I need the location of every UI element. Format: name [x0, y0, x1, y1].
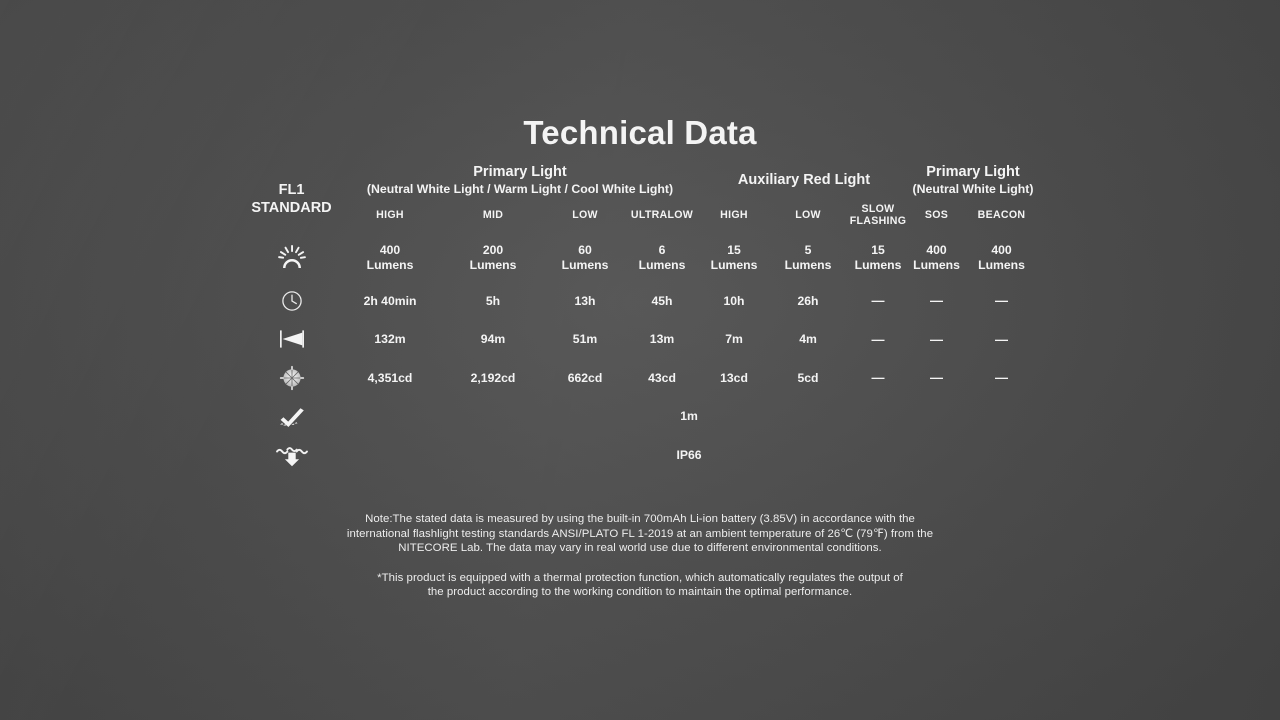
- cell-beam-distance-red-slow-flashing: —: [848, 320, 908, 359]
- cell-beam-distance-primary-mid: 94m: [440, 320, 546, 359]
- note-thermal-protection: *This product is equipped with a thermal…: [0, 571, 1280, 600]
- table-row-peak-beam-intensity: 4,351cd 2,192cd 662cd 43cd 13cd 5cd — — …: [243, 359, 1038, 398]
- cell-lumens-primary-ultralow: 6 Lumens: [624, 235, 700, 282]
- page-title: Technical Data: [0, 114, 1280, 152]
- value: 400: [380, 243, 400, 257]
- group-name: Primary Light: [926, 164, 1019, 180]
- technical-data-table: FL1 STANDARD Primary Light (Neutral Whit…: [243, 164, 1038, 475]
- cell-runtime-primary-high: 2h 40min: [340, 282, 440, 321]
- footnotes: Note:The stated data is measured by usin…: [0, 512, 1280, 600]
- technical-data-table-wrapper: FL1 STANDARD Primary Light (Neutral Whit…: [243, 164, 1038, 475]
- fl1-standard-cell: FL1 STANDARD: [243, 164, 340, 235]
- note-line: the product according to the working con…: [428, 586, 853, 598]
- cell-runtime-red-low: 26h: [768, 282, 848, 321]
- runtime-clock-icon: [243, 282, 340, 321]
- mode-header-red-slow-flashing: SLOW FLASHING: [848, 197, 908, 235]
- table-row-lumens: 400 Lumens 200 Lumens 60 Lumens 6 Lumens…: [243, 235, 1038, 282]
- cell-beam-distance-sos: —: [908, 320, 965, 359]
- cell-runtime-beacon: —: [965, 282, 1038, 321]
- unit: Lumens: [908, 258, 965, 273]
- group-header-auxiliary-red-light: Auxiliary Red Light: [700, 164, 908, 197]
- cell-intensity-red-low: 5cd: [768, 359, 848, 398]
- cell-runtime-primary-mid: 5h: [440, 282, 546, 321]
- table-row-beam-distance: 132m 94m 51m 13m 7m 4m — — —: [243, 320, 1038, 359]
- group-subtitle: (Neutral White Light): [908, 182, 1038, 197]
- mode-header-red-low: LOW: [768, 197, 848, 235]
- unit: Lumens: [965, 258, 1038, 273]
- mode-header-primary-ultralow: ULTRALOW: [624, 197, 700, 235]
- cell-impact-resistance-value: 1m: [340, 397, 1038, 436]
- cell-lumens-red-low: 5 Lumens: [768, 235, 848, 282]
- cell-runtime-red-slow-flashing: —: [848, 282, 908, 321]
- group-name: Primary Light: [473, 164, 566, 180]
- unit: Lumens: [440, 258, 546, 273]
- cell-intensity-beacon: —: [965, 359, 1038, 398]
- mode-header-primary-high: HIGH: [340, 197, 440, 235]
- unit: Lumens: [340, 258, 440, 273]
- cell-waterproof-value: IP66: [340, 436, 1038, 475]
- cell-runtime-primary-ultralow: 45h: [624, 282, 700, 321]
- unit: Lumens: [546, 258, 624, 273]
- fl1-label-line2: STANDARD: [251, 200, 331, 216]
- brightness-icon: [243, 235, 340, 282]
- note-measurement: Note:The stated data is measured by usin…: [0, 512, 1280, 556]
- cell-beam-distance-red-high: 7m: [700, 320, 768, 359]
- mode-header-sos: SOS: [908, 197, 965, 235]
- note-line: Note:The stated data is measured by usin…: [365, 513, 915, 525]
- fl1-label-line1: FL1: [279, 182, 305, 198]
- table-row-waterproof: IP66: [243, 436, 1038, 475]
- cell-lumens-primary-low: 60 Lumens: [546, 235, 624, 282]
- value: 200: [483, 243, 503, 257]
- cell-intensity-red-high: 13cd: [700, 359, 768, 398]
- group-header-primary-light-secondary: Primary Light (Neutral White Light): [908, 164, 1038, 197]
- waterproof-icon: [243, 436, 340, 475]
- group-subtitle: (Neutral White Light / Warm Light / Cool…: [340, 182, 700, 197]
- cell-lumens-red-high: 15 Lumens: [700, 235, 768, 282]
- value: 400: [991, 243, 1011, 257]
- cell-intensity-primary-mid: 2,192cd: [440, 359, 546, 398]
- cell-lumens-primary-mid: 200 Lumens: [440, 235, 546, 282]
- cell-beam-distance-primary-ultralow: 13m: [624, 320, 700, 359]
- value: 15: [871, 243, 885, 257]
- cell-lumens-red-slow-flashing: 15 Lumens: [848, 235, 908, 282]
- table-row-runtime: 2h 40min 5h 13h 45h 10h 26h — — —: [243, 282, 1038, 321]
- table-row-impact-resistance: 1m: [243, 397, 1038, 436]
- cell-lumens-sos: 400 Lumens: [908, 235, 965, 282]
- group-header-primary-light-main: Primary Light (Neutral White Light / War…: [340, 164, 700, 197]
- cell-intensity-primary-high: 4,351cd: [340, 359, 440, 398]
- value: 6: [659, 243, 666, 257]
- unit: Lumens: [700, 258, 768, 273]
- unit: Lumens: [624, 258, 700, 273]
- mode-header-beacon: BEACON: [965, 197, 1038, 235]
- mode-header-primary-low: LOW: [546, 197, 624, 235]
- note-line: international flashlight testing standar…: [347, 528, 933, 540]
- table-mode-header-row: HIGH MID LOW ULTRALOW HIGH LOW SLOW FLAS…: [243, 197, 1038, 235]
- cell-intensity-primary-low: 662cd: [546, 359, 624, 398]
- note-line: *This product is equipped with a thermal…: [377, 572, 903, 584]
- cell-lumens-primary-high: 400 Lumens: [340, 235, 440, 282]
- value: 60: [578, 243, 592, 257]
- value: 400: [926, 243, 946, 257]
- peak-beam-intensity-icon: [243, 359, 340, 398]
- impact-resistance-icon: [243, 397, 340, 436]
- group-name: Auxiliary Red Light: [738, 172, 870, 188]
- table-group-header-row: FL1 STANDARD Primary Light (Neutral Whit…: [243, 164, 1038, 197]
- mode-header-red-high: HIGH: [700, 197, 768, 235]
- cell-lumens-beacon: 400 Lumens: [965, 235, 1038, 282]
- cell-beam-distance-beacon: —: [965, 320, 1038, 359]
- cell-intensity-red-slow-flashing: —: [848, 359, 908, 398]
- cell-runtime-red-high: 10h: [700, 282, 768, 321]
- cell-intensity-primary-ultralow: 43cd: [624, 359, 700, 398]
- unit: Lumens: [768, 258, 848, 273]
- cell-beam-distance-primary-low: 51m: [546, 320, 624, 359]
- cell-runtime-sos: —: [908, 282, 965, 321]
- cell-runtime-primary-low: 13h: [546, 282, 624, 321]
- technical-data-page: Technical Data FL1 STANDARD Primary Ligh…: [0, 0, 1280, 720]
- cell-beam-distance-red-low: 4m: [768, 320, 848, 359]
- cell-intensity-sos: —: [908, 359, 965, 398]
- value: 5: [805, 243, 812, 257]
- note-line: NITECORE Lab. The data may vary in real …: [398, 542, 881, 554]
- value: 15: [727, 243, 741, 257]
- mode-header-primary-mid: MID: [440, 197, 546, 235]
- beam-distance-icon: [243, 320, 340, 359]
- cell-beam-distance-primary-high: 132m: [340, 320, 440, 359]
- unit: Lumens: [848, 258, 908, 273]
